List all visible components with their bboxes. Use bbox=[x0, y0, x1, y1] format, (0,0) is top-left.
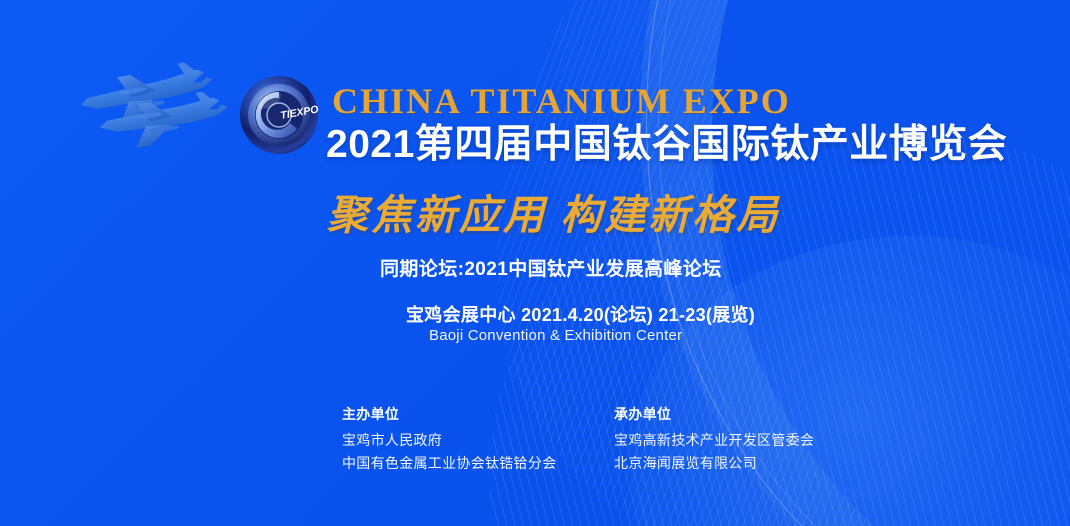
organizer-line: 宝鸡高新技术产业开发区管委会 bbox=[614, 429, 922, 452]
host-line: 宝鸡市人民政府 bbox=[342, 429, 614, 452]
chinese-title: 2021第四届中国钛谷国际钛产业博览会 bbox=[326, 113, 1007, 169]
organizers-section: 主办单位 宝鸡市人民政府 中国有色金属工业协会钛锆铪分会 承办单位 宝鸡高新技术… bbox=[342, 404, 922, 475]
organizer-column: 承办单位 宝鸡高新技术产业开发区管委会 北京海闻展览有限公司 bbox=[614, 404, 922, 475]
tiexpo-logo: TIEXPO bbox=[238, 74, 320, 156]
expo-banner: TIEXPO CHINA TITANIUM EXPO 2021第四届中国钛谷国际… bbox=[0, 0, 1070, 526]
airplane-icon bbox=[34, 46, 244, 164]
host-heading: 主办单位 bbox=[342, 404, 614, 424]
forum-line: 同期论坛:2021中国钛产业发展高峰论坛 bbox=[380, 254, 722, 281]
venue-english: Baoji Convention & Exhibition Center bbox=[429, 327, 682, 344]
organizer-line: 北京海闻展览有限公司 bbox=[614, 452, 922, 475]
venue-chinese: 宝鸡会展中心 2021.4.20(论坛) 21-23(展览) bbox=[406, 301, 755, 327]
organizer-heading: 承办单位 bbox=[614, 404, 922, 424]
slogan: 聚焦新应用 构建新格局 bbox=[327, 181, 780, 241]
host-column: 主办单位 宝鸡市人民政府 中国有色金属工业协会钛锆铪分会 bbox=[342, 404, 614, 475]
host-line: 中国有色金属工业协会钛锆铪分会 bbox=[342, 452, 614, 475]
